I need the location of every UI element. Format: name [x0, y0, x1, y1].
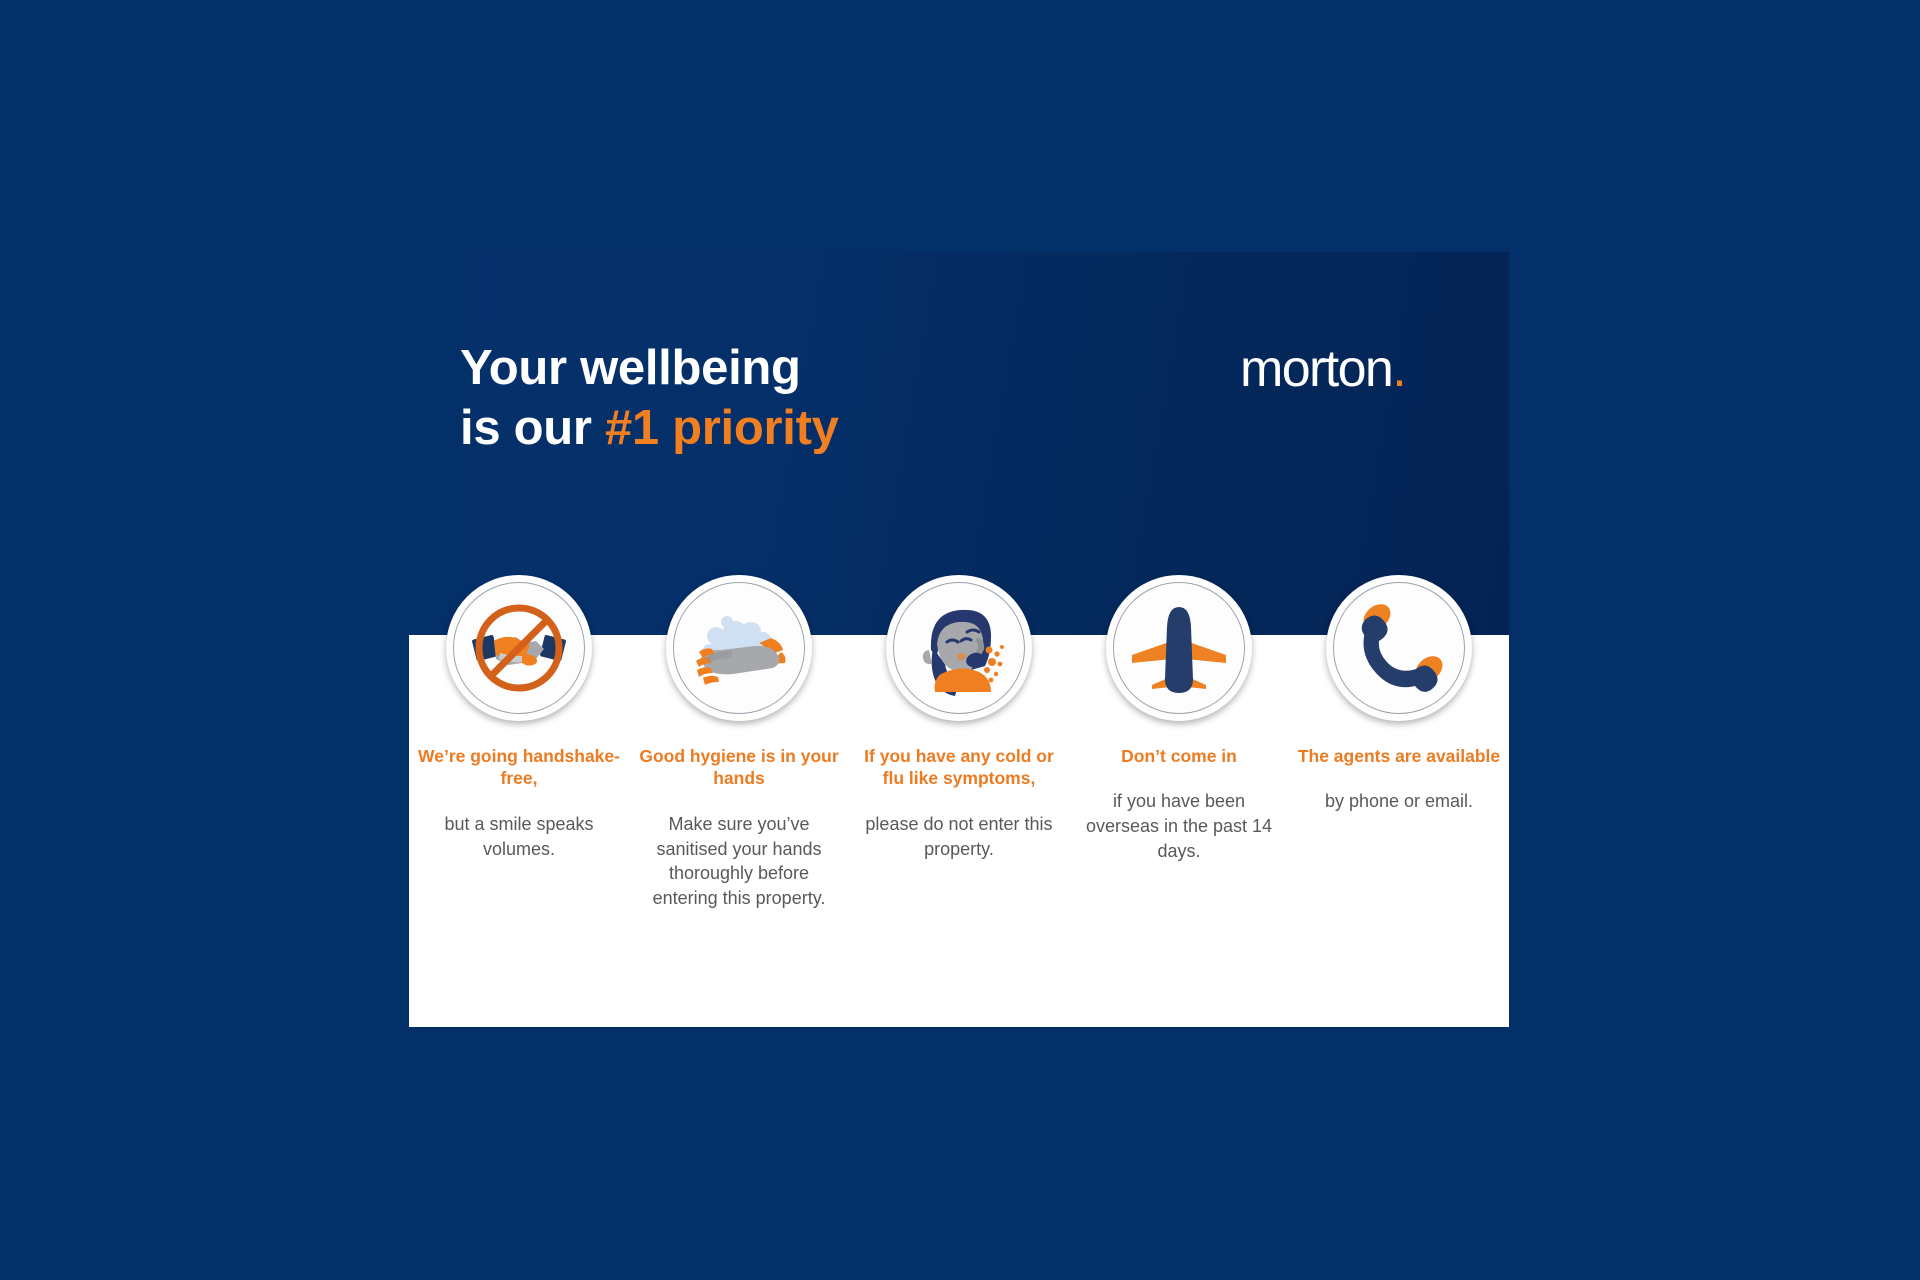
poster-canvas: Your wellbeing is our #1 priority morton…	[0, 0, 1920, 1280]
page-title: Your wellbeing is our #1 priority	[460, 339, 839, 459]
advice-column-handshake: We’re going handshake-free, but a smile …	[409, 575, 629, 911]
headline-line-1: Your wellbeing	[460, 341, 801, 395]
advice-body: but a smile speaks volumes.	[421, 812, 617, 862]
advice-heading: If you have any cold or flu like symptom…	[854, 745, 1064, 790]
advice-body: if you have been overseas in the past 14…	[1081, 789, 1277, 863]
hand-washing-icon	[666, 575, 812, 721]
advice-heading: The agents are available	[1294, 745, 1504, 767]
advice-heading: Good hygiene is in your hands	[634, 745, 844, 790]
advice-heading: We’re going handshake-free,	[414, 745, 624, 790]
logo-dot: .	[1392, 340, 1405, 398]
advice-heading: Don’t come in	[1074, 745, 1284, 767]
advice-column-contact: The agents are available by phone or ema…	[1289, 575, 1509, 911]
advice-column-hygiene: Good hygiene is in your hands Make sure …	[629, 575, 849, 911]
advice-body: please do not enter this property.	[861, 812, 1057, 862]
advice-columns: We’re going handshake-free, but a smile …	[409, 575, 1509, 911]
logo-wordmark: morton	[1240, 340, 1392, 398]
airplane-icon	[1106, 575, 1252, 721]
advice-column-symptoms: If you have any cold or flu like symptom…	[849, 575, 1069, 911]
headline-line-2-plain: is our	[460, 401, 605, 455]
no-handshake-icon	[446, 575, 592, 721]
advice-column-travel: Don’t come in if you have been overseas …	[1069, 575, 1289, 911]
headline-line-2: is our #1 priority	[460, 399, 839, 459]
morton-logo: morton.	[1240, 343, 1405, 395]
advice-body: by phone or email.	[1301, 789, 1497, 814]
phone-handset-icon	[1326, 575, 1472, 721]
headline-accent: #1 priority	[605, 401, 839, 455]
sneezing-person-icon	[886, 575, 1032, 721]
advice-body: Make sure you’ve sanitised your hands th…	[641, 812, 837, 911]
